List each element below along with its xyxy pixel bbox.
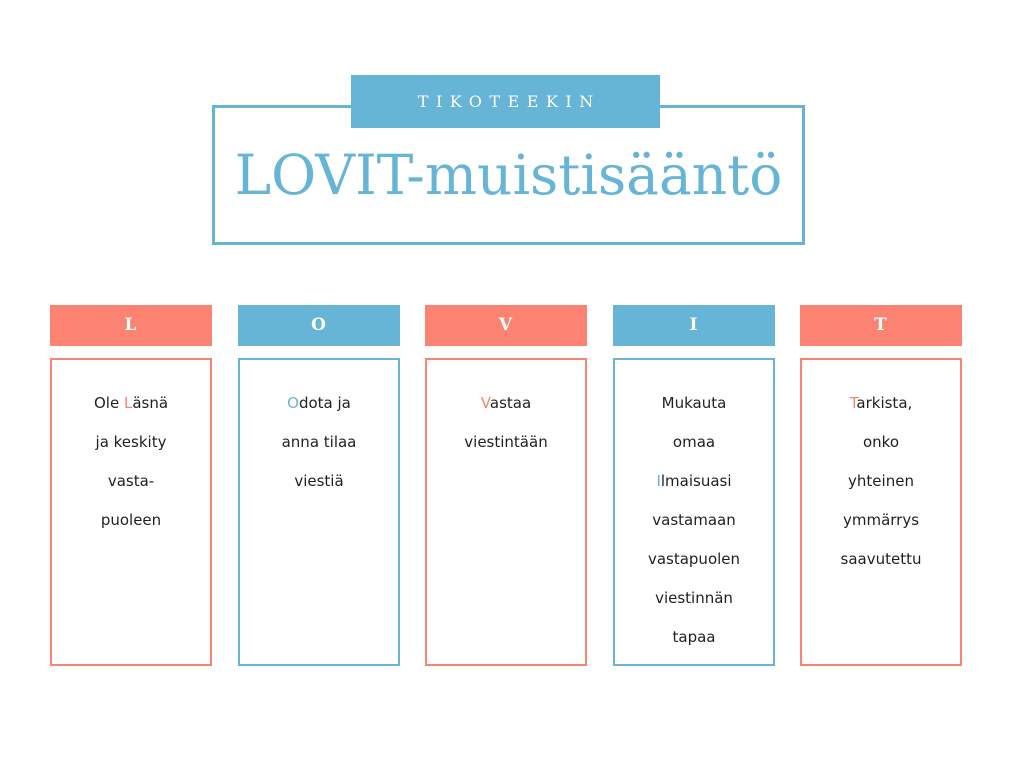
column-text-line: yhteinen	[802, 462, 960, 501]
column-text-line: saavutettu	[802, 540, 960, 579]
column-text-line: onko	[802, 423, 960, 462]
column-header-l: L	[50, 305, 212, 346]
column-text-line: Vastaa	[427, 384, 585, 423]
column-body-i: MukautaomaaIlmaisuasivastamaanvastapuole…	[613, 358, 775, 666]
line-suffix: lmaisuasi	[661, 472, 732, 490]
line-prefix: vasta-	[108, 472, 154, 490]
lovit-column-t: TTarkista,onkoyhteinenymmärryssaavutettu	[800, 305, 962, 666]
line-prefix: vastamaan	[652, 511, 735, 529]
column-text-line: viestinnän	[615, 579, 773, 618]
column-text-line: Ilmaisuasi	[615, 462, 773, 501]
lovit-columns: LOle Läsnäja keskityvasta-puoleenOOdota …	[50, 305, 963, 666]
column-body-l: Ole Läsnäja keskityvasta-puoleen	[50, 358, 212, 666]
column-text-line: viestiä	[240, 462, 398, 501]
column-letter: V	[499, 317, 513, 334]
line-accent-initial: O	[287, 394, 299, 412]
column-text-line: ja keskity	[52, 423, 210, 462]
column-letter: O	[311, 317, 327, 334]
column-header-v: V	[425, 305, 587, 346]
line-accent-initial: V	[481, 394, 490, 412]
column-header-o: O	[238, 305, 400, 346]
column-text-line: puoleen	[52, 501, 210, 540]
line-prefix: ja keskity	[96, 433, 167, 451]
lovit-column-o: OOdota jaanna tilaaviestiä	[238, 305, 400, 666]
line-prefix: viestiä	[294, 472, 343, 490]
line-prefix: puoleen	[101, 511, 161, 529]
column-body-o: Odota jaanna tilaaviestiä	[238, 358, 400, 666]
column-letter: L	[125, 317, 138, 334]
column-text-line: tapaa	[615, 618, 773, 657]
line-suffix: äsnä	[132, 394, 168, 412]
title-block: LOVIT-muistisääntö TIKOTEEKIN	[0, 0, 1024, 280]
line-prefix: viestinnän	[655, 589, 733, 607]
column-letter: I	[690, 317, 699, 334]
line-prefix: omaa	[673, 433, 715, 451]
column-header-t: T	[800, 305, 962, 346]
column-text-line: vastapuolen	[615, 540, 773, 579]
slide-canvas: LOVIT-muistisääntö TIKOTEEKIN LOle Läsnä…	[0, 0, 1024, 768]
column-body-t: Tarkista,onkoyhteinenymmärryssaavutettu	[800, 358, 962, 666]
line-prefix: saavutettu	[841, 550, 922, 568]
column-text-line: ymmärrys	[802, 501, 960, 540]
column-text-line: viestintään	[427, 423, 585, 462]
eyebrow-label: TIKOTEEKIN	[410, 94, 600, 110]
lovit-column-l: LOle Läsnäja keskityvasta-puoleen	[50, 305, 212, 666]
column-letter: T	[874, 317, 888, 334]
line-prefix: yhteinen	[848, 472, 914, 490]
column-text-line: vasta-	[52, 462, 210, 501]
column-text-line: Ole Läsnä	[52, 384, 210, 423]
column-text-line: omaa	[615, 423, 773, 462]
line-prefix: ymmärrys	[843, 511, 919, 529]
line-prefix: Ole	[94, 394, 124, 412]
column-text-line: Mukauta	[615, 384, 773, 423]
column-text-line: Odota ja	[240, 384, 398, 423]
line-suffix: astaa	[490, 394, 531, 412]
column-text-line: anna tilaa	[240, 423, 398, 462]
line-prefix: Mukauta	[662, 394, 727, 412]
column-body-v: Vastaaviestintään	[425, 358, 587, 666]
lovit-column-i: IMukautaomaaIlmaisuasivastamaanvastapuol…	[613, 305, 775, 666]
line-suffix: dota ja	[299, 394, 351, 412]
line-suffix: arkista,	[856, 394, 912, 412]
lovit-column-v: VVastaaviestintään	[425, 305, 587, 666]
line-prefix: tapaa	[673, 628, 716, 646]
line-prefix: onko	[863, 433, 899, 451]
line-prefix: anna tilaa	[282, 433, 357, 451]
line-prefix: viestintään	[464, 433, 547, 451]
eyebrow-banner: TIKOTEEKIN	[351, 75, 660, 128]
column-header-i: I	[613, 305, 775, 346]
column-text-line: Tarkista,	[802, 384, 960, 423]
line-prefix: vastapuolen	[648, 550, 740, 568]
column-text-line: vastamaan	[615, 501, 773, 540]
